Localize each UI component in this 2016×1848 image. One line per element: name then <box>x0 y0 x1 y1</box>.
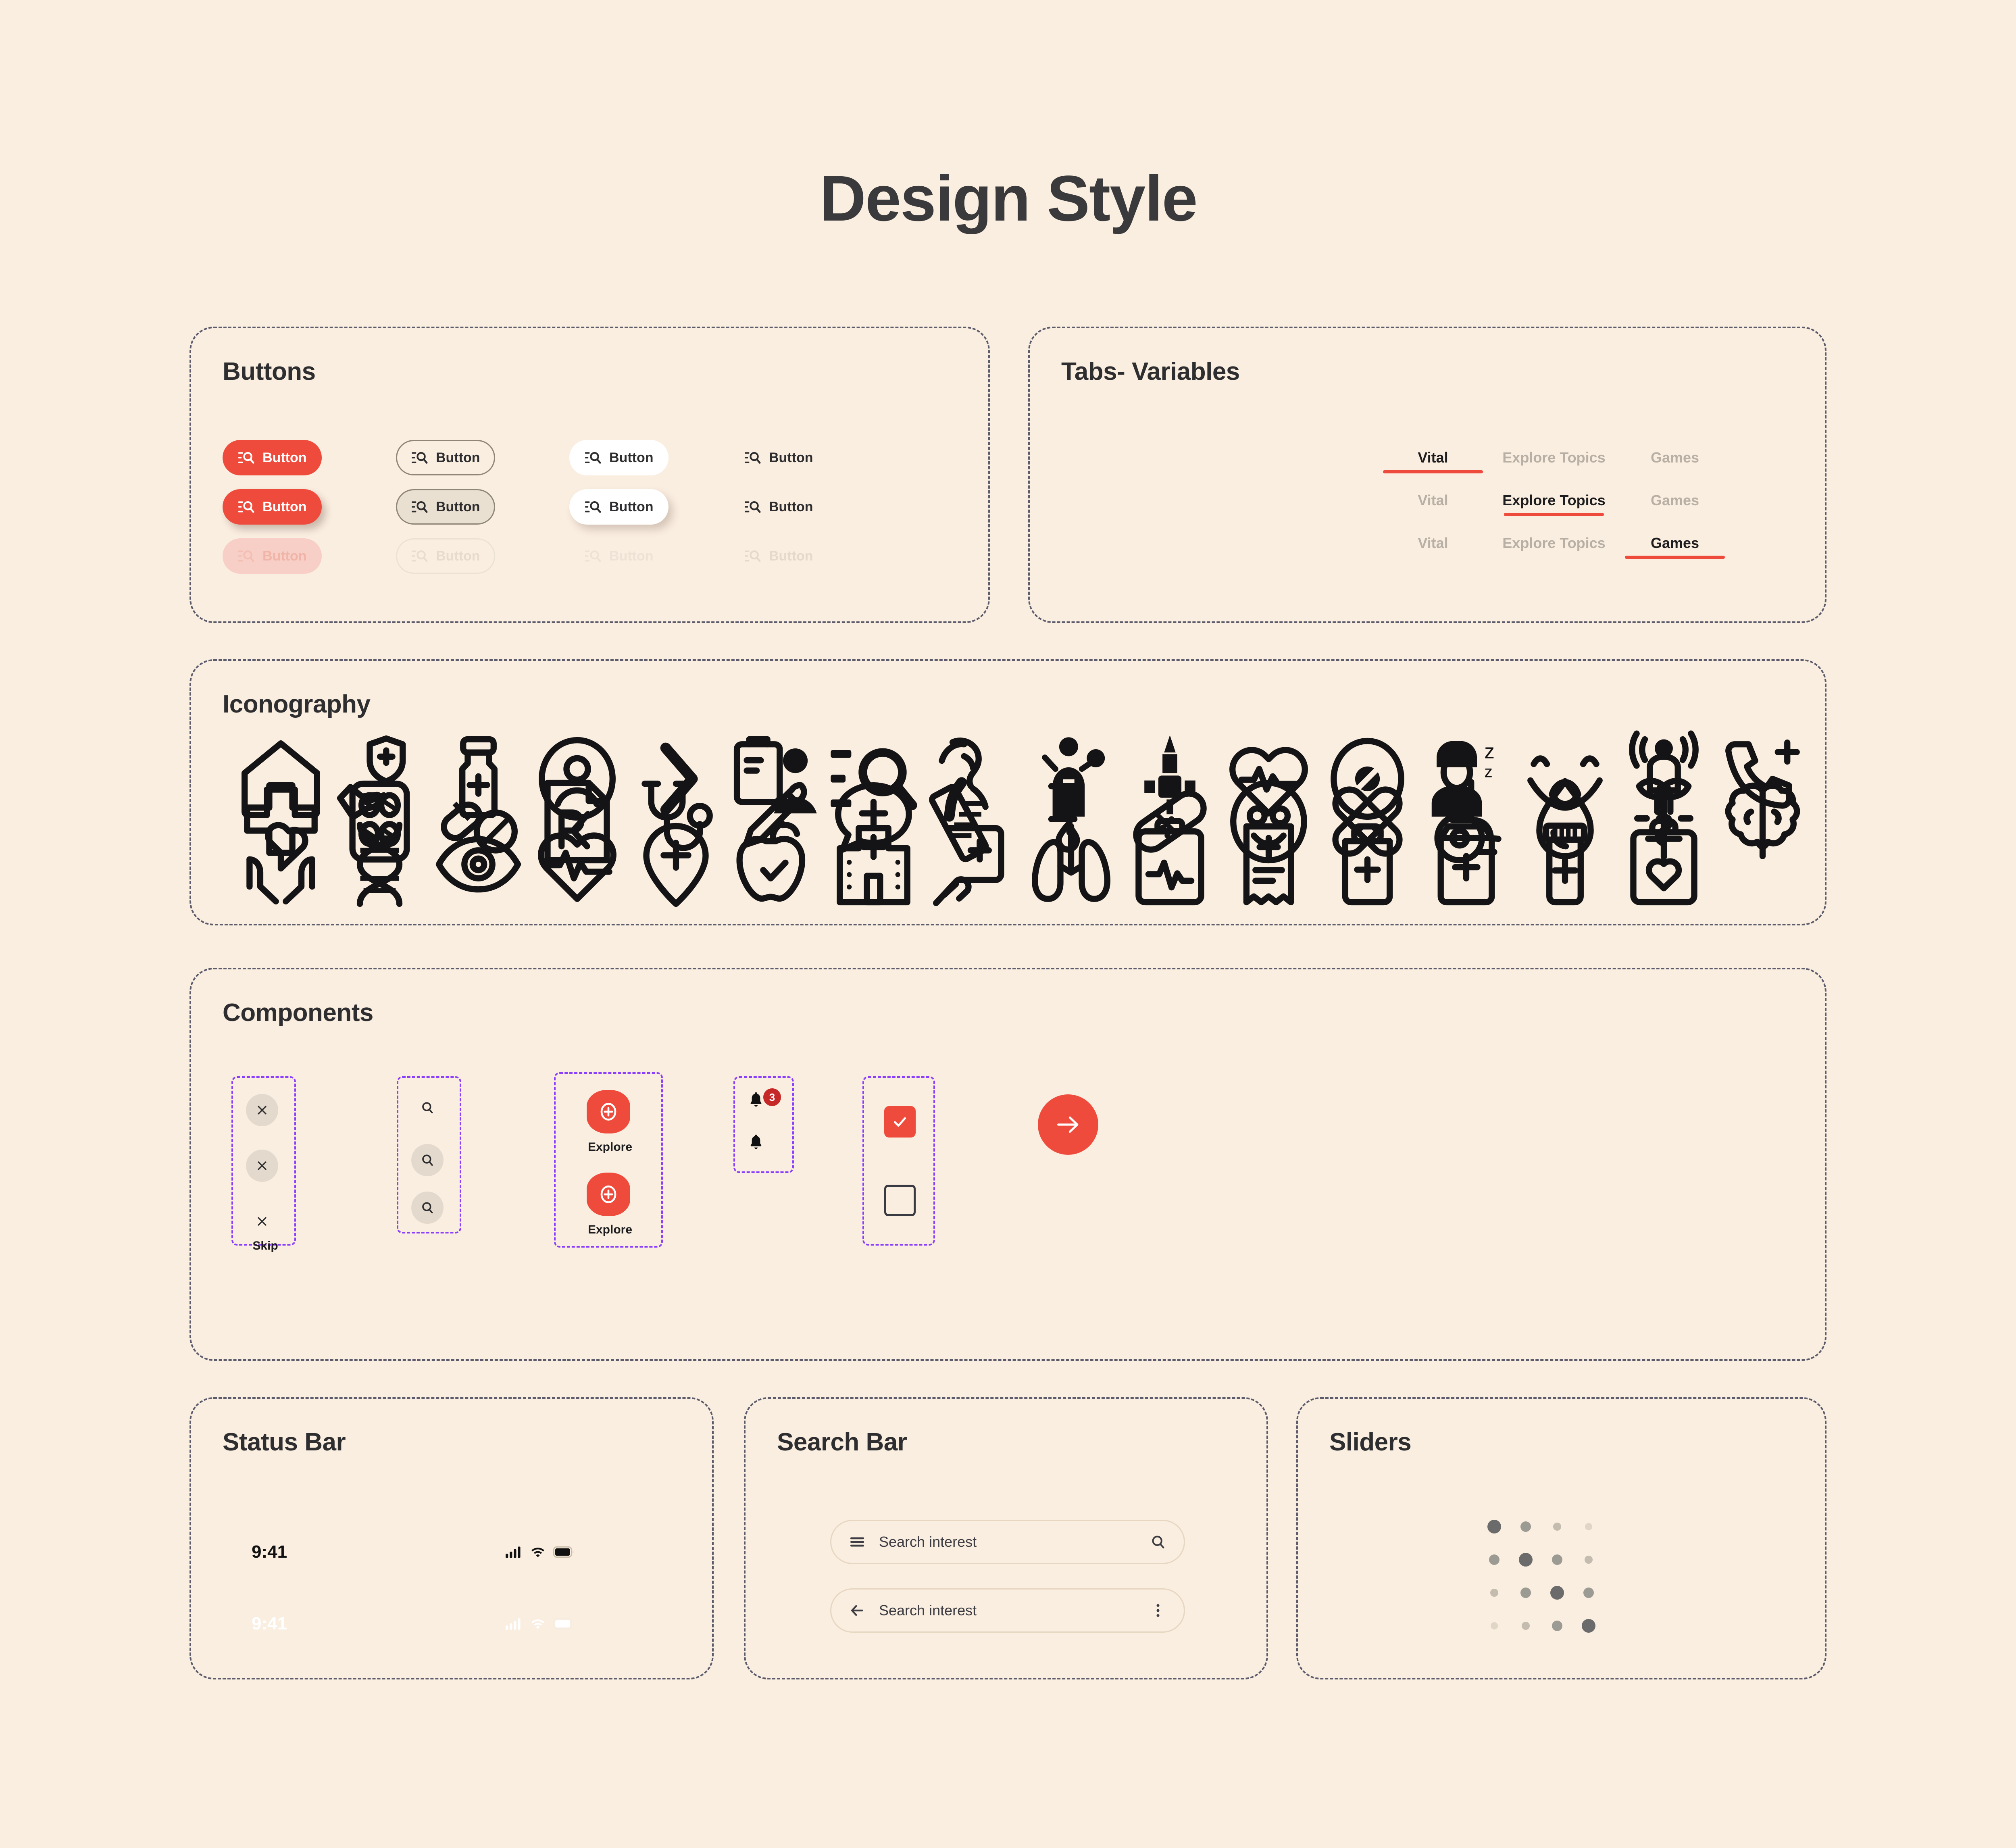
dna-icon[interactable] <box>330 815 429 914</box>
search-list-icon <box>237 498 254 515</box>
slider-dot-active[interactable] <box>1487 1520 1501 1533</box>
arrow-left-icon[interactable] <box>848 1602 866 1619</box>
search-icon-group <box>397 1076 461 1233</box>
panel-title-iconography: Iconography <box>223 690 371 719</box>
tab-vital[interactable]: Vital <box>1372 535 1493 559</box>
status-bar-time: 9:41 <box>252 1542 287 1562</box>
tab-games[interactable]: Games <box>1614 449 1735 473</box>
button-label: Button <box>609 450 654 466</box>
medicine-box-icon[interactable] <box>1417 815 1516 914</box>
icon-cell <box>923 815 1022 914</box>
search-list-icon <box>744 548 761 565</box>
icon-cell <box>1219 815 1318 914</box>
button-label: Button <box>769 450 813 466</box>
button-label: Button <box>769 548 813 564</box>
slider-dot-active[interactable] <box>1582 1619 1595 1633</box>
slider-dot-slot <box>1582 1523 1595 1530</box>
panel-title-status-bar: Status Bar <box>223 1428 346 1456</box>
medical-receipt-icon[interactable] <box>1219 815 1318 914</box>
button-outline-default[interactable]: Button <box>396 440 495 475</box>
button-plain-disabled-disabled: Button <box>743 538 828 574</box>
button-label: Button <box>262 450 307 466</box>
bell-icon-with-badge[interactable]: 3 <box>746 1090 778 1122</box>
icon-cell <box>725 815 824 914</box>
explore-label-1: Explore <box>556 1140 664 1154</box>
button-label: Button <box>436 548 480 564</box>
icon-cell <box>528 815 627 914</box>
button-tonal-pressed[interactable]: Button <box>396 489 495 525</box>
ecg-clipboard-icon[interactable] <box>1120 815 1219 914</box>
slider-row-2 <box>1487 1553 1595 1567</box>
slider-dot[interactable] <box>1520 1521 1531 1532</box>
bell-icon[interactable] <box>746 1132 778 1165</box>
search-list-icon <box>411 498 428 515</box>
panel-buttons: Buttons ButtonButtonButtonButtonButtonBu… <box>190 327 990 623</box>
tab-vital[interactable]: Vital <box>1372 492 1493 516</box>
button-faint-disabled: Button <box>569 538 669 574</box>
search-input-2[interactable]: Search interest <box>879 1602 1136 1619</box>
slider-row-1 <box>1487 1520 1595 1533</box>
button-plain-default[interactable]: Button <box>743 489 828 525</box>
button-ghost-disabled-disabled: Button <box>396 538 495 574</box>
medicine-jar-icon[interactable] <box>1318 815 1417 914</box>
icon-cell <box>1516 815 1614 914</box>
search-icon[interactable] <box>1149 1533 1167 1551</box>
panel-title-components: Components <box>223 998 373 1027</box>
slider-dot[interactable] <box>1491 1622 1498 1629</box>
search-icon-filled[interactable] <box>411 1144 444 1176</box>
cellular-signal-icon-light <box>506 1618 523 1630</box>
search-bar-menu[interactable]: Search interest <box>830 1520 1185 1564</box>
medicine-vial-icon[interactable] <box>1516 815 1614 914</box>
hands-heart-icon[interactable] <box>231 815 330 914</box>
button-label: Button <box>769 499 813 515</box>
slider-dot[interactable] <box>1552 1621 1562 1631</box>
search-list-icon <box>584 548 601 565</box>
slider-dot-slot <box>1519 1588 1533 1598</box>
button-solid-shadow-hover[interactable]: Button <box>223 489 322 525</box>
slider-row-4 <box>1487 1619 1595 1633</box>
notification-badge: 3 <box>763 1088 781 1106</box>
hospital-building-icon[interactable] <box>824 815 923 914</box>
slider-dot[interactable] <box>1520 1588 1531 1598</box>
close-button-plain[interactable] <box>246 1205 278 1238</box>
slider-dot-slot <box>1582 1556 1595 1564</box>
notification-bell-group: 3 <box>733 1076 794 1173</box>
slider-dot[interactable] <box>1553 1523 1561 1531</box>
slider-dot[interactable] <box>1489 1554 1500 1565</box>
icon-cell <box>1614 815 1713 914</box>
slider-dot-slot <box>1550 1554 1564 1565</box>
battery-icon <box>553 1546 574 1558</box>
lungs-icon[interactable] <box>1022 815 1120 914</box>
eye-icon[interactable] <box>429 815 528 914</box>
search-list-icon <box>584 498 601 515</box>
slider-dot[interactable] <box>1522 1622 1530 1630</box>
button-label: Button <box>436 499 480 515</box>
explore-fab-2[interactable] <box>587 1173 630 1216</box>
close-button-filled[interactable] <box>246 1094 278 1126</box>
tab-row-3: VitalExplore TopicsGames <box>1372 535 1735 559</box>
slider-dot-slot <box>1487 1554 1501 1565</box>
icon-cell <box>429 815 528 914</box>
status-bar-icons-light <box>506 1618 574 1630</box>
svg-text:z: z <box>1484 740 1495 763</box>
status-bar-icons <box>506 1546 574 1558</box>
panel-sliders: Sliders <box>1296 1397 1826 1679</box>
tab-explore-topics-active[interactable]: Explore Topics <box>1493 492 1614 516</box>
slider-dot-slot <box>1550 1621 1564 1631</box>
button-tint-disabled: Button <box>223 538 322 574</box>
tab-vital-active[interactable]: Vital <box>1372 449 1493 473</box>
slider-dot-slot <box>1550 1586 1564 1600</box>
icon-cell <box>1120 815 1219 914</box>
panel-title-buttons: Buttons <box>223 357 316 386</box>
slider-dot-slot <box>1487 1589 1501 1597</box>
status-bar-time-light: 9:41 <box>252 1614 287 1634</box>
slider-dot-slot <box>1487 1622 1501 1629</box>
icon-cell <box>330 815 429 914</box>
explore-label-2: Explore <box>556 1223 664 1237</box>
panel-title-sliders: Sliders <box>1329 1428 1411 1456</box>
search-list-icon <box>411 548 428 565</box>
button-plain-default[interactable]: Button <box>743 440 828 475</box>
slider-dot[interactable] <box>1583 1588 1594 1598</box>
search-list-icon <box>237 548 254 565</box>
first-aid-scan-icon[interactable] <box>923 815 1022 914</box>
icon-cell <box>1022 815 1120 914</box>
slider-dot-active[interactable] <box>1519 1553 1533 1567</box>
battery-icon-light <box>553 1618 574 1629</box>
search-icon-plain[interactable] <box>411 1092 444 1124</box>
search-list-icon <box>411 449 428 466</box>
search-input[interactable]: Search interest <box>879 1533 1136 1550</box>
checkbox-group <box>862 1076 935 1246</box>
page-title: Design Style <box>0 161 2016 235</box>
icon-cell <box>1417 815 1516 914</box>
panel-title-search-bar: Search Bar <box>777 1428 907 1456</box>
panel-search-bar: Search Bar Search interest Search intere… <box>744 1397 1268 1679</box>
icon-cell <box>824 815 923 914</box>
checkbox-checked[interactable] <box>884 1106 916 1138</box>
tabs-variants: VitalExplore TopicsGamesVitalExplore Top… <box>1372 449 1735 577</box>
slider-dot[interactable] <box>1552 1554 1562 1565</box>
brain-icon[interactable] <box>1713 772 1812 871</box>
slider-dot-slot <box>1582 1619 1595 1633</box>
wifi-icon <box>530 1546 546 1558</box>
search-list-icon <box>237 449 254 466</box>
button-white-shadow-hover[interactable]: Button <box>569 489 669 525</box>
slider-dot-active[interactable] <box>1550 1586 1564 1600</box>
skip-label: Skip <box>233 1239 298 1253</box>
clipboard-heart-icon[interactable] <box>1614 815 1713 914</box>
tab-explore-topics[interactable]: Explore Topics <box>1493 449 1614 473</box>
search-list-icon <box>584 449 601 466</box>
icon-cell <box>627 815 725 914</box>
tab-row-1: VitalExplore TopicsGames <box>1372 449 1735 473</box>
button-label: Button <box>262 499 307 515</box>
panel-components: Components Skip <box>190 968 1826 1361</box>
slider-dot-rows <box>1487 1520 1595 1633</box>
panel-tabs: Tabs- Variables VitalExplore TopicsGames… <box>1028 327 1826 623</box>
status-bar-dark: 9:41 <box>252 1542 574 1562</box>
tab-games[interactable]: Games <box>1614 492 1735 516</box>
button-white-default[interactable]: Button <box>569 440 669 475</box>
icon-cell <box>1713 772 1812 871</box>
slider-dot-slot <box>1550 1523 1564 1531</box>
tab-row-2: VitalExplore TopicsGames <box>1372 492 1735 516</box>
icon-grid: zz <box>231 762 1911 881</box>
slider-dot-slot <box>1519 1622 1533 1630</box>
button-label: Button <box>609 499 654 515</box>
slider-dot-slot <box>1519 1521 1533 1532</box>
slider-dot[interactable] <box>1490 1589 1498 1597</box>
slider-dot[interactable] <box>1585 1556 1593 1564</box>
button-label: Button <box>262 548 307 564</box>
cellular-signal-icon <box>506 1546 523 1558</box>
slider-row-3 <box>1487 1586 1595 1600</box>
button-label: Button <box>609 548 654 564</box>
explore-fab-group: Explore Explore <box>554 1072 663 1248</box>
slider-dot[interactable] <box>1585 1523 1592 1530</box>
wifi-icon-light <box>530 1618 546 1630</box>
tab-games-active[interactable]: Games <box>1614 535 1735 559</box>
panel-iconography: Iconography zz <box>190 659 1826 925</box>
location-medical-pin-icon[interactable] <box>627 815 725 914</box>
close-button-group: Skip <box>231 1076 296 1246</box>
apple-health-icon[interactable] <box>725 815 824 914</box>
buttons-grid: ButtonButtonButtonButtonButtonButtonButt… <box>223 433 916 581</box>
hamburger-menu-icon[interactable] <box>848 1533 866 1551</box>
search-bar-back[interactable]: Search interest <box>830 1588 1185 1633</box>
slider-dot-slot <box>1487 1520 1501 1533</box>
status-bar-light: 9:41 <box>252 1614 574 1634</box>
button-solid-default[interactable]: Button <box>223 440 322 475</box>
icon-cell <box>1318 815 1417 914</box>
search-list-icon <box>744 449 761 466</box>
heart-pulse-icon[interactable] <box>528 815 627 914</box>
checkbox-unchecked[interactable] <box>884 1185 916 1216</box>
button-label: Button <box>436 450 480 466</box>
tab-explore-topics[interactable]: Explore Topics <box>1493 535 1614 559</box>
icon-cell <box>231 815 330 914</box>
search-list-icon <box>744 498 761 515</box>
slider-dot-slot <box>1519 1553 1533 1567</box>
search-icon-filled-2[interactable] <box>411 1192 444 1224</box>
more-vertical-icon[interactable] <box>1149 1602 1167 1619</box>
explore-fab-1[interactable] <box>587 1090 630 1133</box>
panel-title-tabs: Tabs- Variables <box>1061 357 1240 386</box>
slider-dot-slot <box>1582 1588 1595 1598</box>
next-fab-button[interactable] <box>1038 1094 1098 1155</box>
panel-status-bar: Status Bar 9:41 9:41 <box>190 1397 714 1679</box>
design-style-page: Design Style Buttons ButtonButtonButtonB… <box>0 0 2016 1848</box>
close-button-filled-2[interactable] <box>246 1150 278 1182</box>
